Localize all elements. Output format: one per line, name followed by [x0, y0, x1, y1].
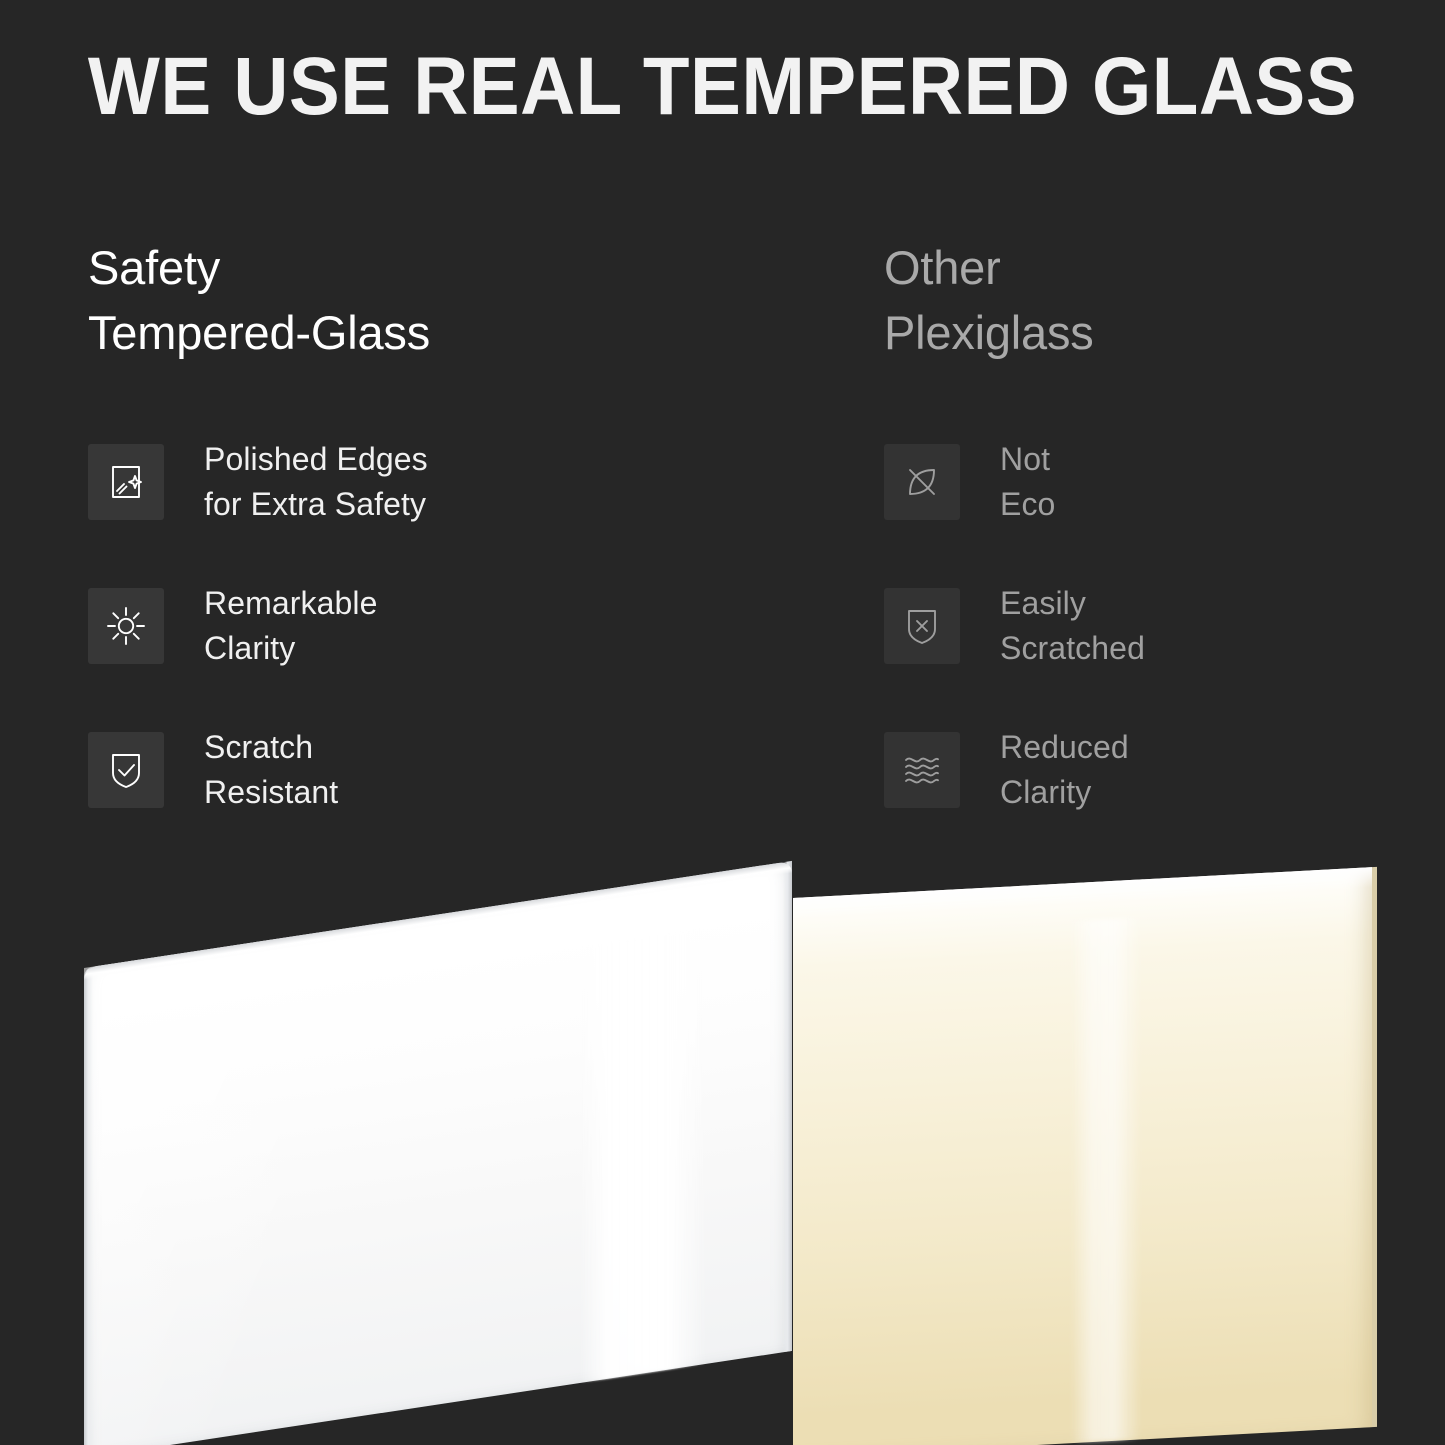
- feature-remarkable-clarity: Remarkable Clarity: [88, 580, 768, 672]
- glass-pane-sparkle-icon: [88, 444, 164, 520]
- glass-right-bevel: [783, 861, 792, 1352]
- glass-soft-reflection: [84, 909, 473, 1445]
- glass-left-bevel: [84, 967, 93, 1445]
- feature-label: Reduced Clarity: [1000, 725, 1129, 816]
- glass-comparison-photo: [0, 840, 1445, 1445]
- sun-brightness-icon: [88, 588, 164, 664]
- feature-list-plexiglass: Not Eco Easily Scratched: [884, 436, 1404, 816]
- feature-polished-edges: Polished Edges for Extra Safety: [88, 436, 768, 528]
- column-title-plexiglass: Other Plexiglass: [884, 236, 1404, 366]
- feature-label: Not Eco: [1000, 437, 1055, 528]
- comparison-columns: Safety Tempered-Glass Polished Edges for…: [0, 236, 1445, 836]
- feature-label: Remarkable Clarity: [204, 581, 378, 672]
- feature-reduced-clarity: Reduced Clarity: [884, 724, 1404, 816]
- feature-not-eco: Not Eco: [884, 436, 1404, 528]
- column-tempered-glass: Safety Tempered-Glass Polished Edges for…: [88, 236, 768, 366]
- feature-easily-scratched: Easily Scratched: [884, 580, 1404, 672]
- feature-label: Scratch Resistant: [204, 725, 338, 816]
- feature-label: Easily Scratched: [1000, 581, 1145, 672]
- glass-reflection: [580, 928, 706, 1383]
- plexi-top-edge: [793, 867, 1372, 918]
- feature-scratch-resistant: Scratch Resistant: [88, 724, 768, 816]
- tempered-glass-panel: [84, 861, 792, 1445]
- leaf-crossed-out-icon: [884, 444, 960, 520]
- plexiglass-panel: [793, 867, 1377, 1445]
- page-title: WE USE REAL TEMPERED GLASS: [51, 44, 1395, 130]
- shield-check-icon: [88, 732, 164, 808]
- shield-x-icon: [884, 588, 960, 664]
- wavy-lines-icon: [884, 732, 960, 808]
- column-title-tempered-glass: Safety Tempered-Glass: [88, 236, 768, 366]
- feature-label: Polished Edges for Extra Safety: [204, 437, 428, 528]
- feature-list-tempered-glass: Polished Edges for Extra Safety Remarkab…: [88, 436, 768, 816]
- plexi-reflection: [1071, 917, 1141, 1443]
- column-plexiglass: Other Plexiglass Not Eco: [884, 236, 1404, 366]
